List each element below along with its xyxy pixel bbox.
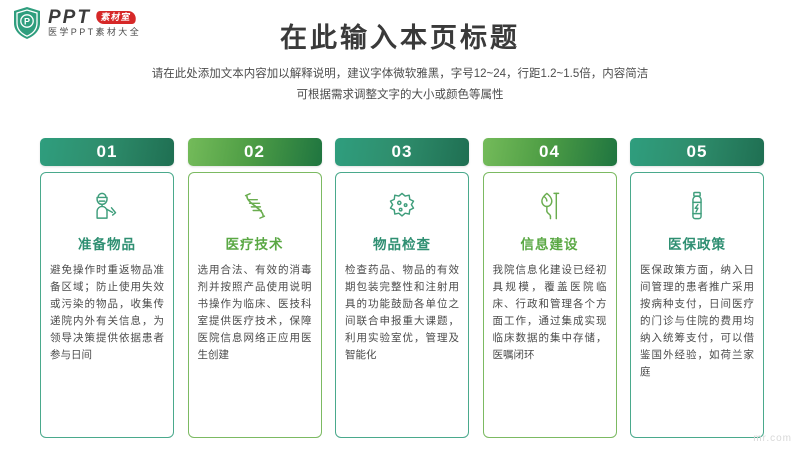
card-column-03: 03 物品检查 检查药品、物品的有效期包装完整性和注射用具的功能鼓励各单位之间联… — [335, 138, 469, 438]
watermark-text: mr.com — [753, 433, 792, 444]
info-card-03[interactable]: 物品检查 检查药品、物品的有效期包装完整性和注射用具的功能鼓励各单位之间联合申报… — [335, 172, 469, 438]
doctor-checklist-icon — [89, 185, 125, 227]
card-column-05: 05 医保政策 医保政策方面，纳入日间管理的患者推广采用按病种支付，日间医疗的门… — [630, 138, 764, 438]
number-badge-05[interactable]: 05 — [630, 138, 764, 166]
card-body-02: 选用合法、有效的消毒剂并按照产品使用说明书操作为临床、医技科室提供医疗技术，保障… — [198, 262, 312, 364]
subtitle-line-1: 请在此处添加文本内容加以解释说明，建议字体微软雅黑，字号12~24，行距1.2~… — [80, 64, 720, 85]
number-badge-02[interactable]: 02 — [188, 138, 322, 166]
card-body-03: 检查药品、物品的有效期包装完整性和注射用具的功能鼓励各单位之间联合申报重大课题，… — [345, 262, 459, 364]
page-title: 在此输入本页标题 — [0, 16, 800, 55]
info-card-01[interactable]: 准备物品 避免操作时重返物品准备区域；防止使用失效或污染的物品，收集传递院内外有… — [40, 172, 174, 438]
card-heading-04: 信息建设 — [521, 233, 579, 253]
slide-canvas: P PPT 素材室 医学PPT素材大全 在此输入本页标题 请在此处添加文本内容加… — [0, 0, 800, 450]
number-badge-04[interactable]: 04 — [483, 138, 617, 166]
card-heading-03: 物品检查 — [373, 233, 431, 253]
number-badge-03[interactable]: 03 — [335, 138, 469, 166]
iv-drip-bag-icon — [532, 185, 568, 227]
card-body-01: 避免操作时重返物品准备区域；防止使用失效或污染的物品，收集传递院内外有关信息，为… — [50, 262, 164, 364]
info-card-05[interactable]: 医保政策 医保政策方面，纳入日间管理的患者推广采用按病种支付，日间医疗的门诊与住… — [630, 172, 764, 438]
card-row: 01 准备物品 避免操作时重返物品准备区域；防止使用失效或污染的物品，收集传递院… — [40, 138, 764, 438]
virus-cell-icon — [384, 185, 420, 227]
card-heading-05: 医保政策 — [668, 233, 726, 253]
card-heading-01: 准备物品 — [78, 233, 136, 253]
number-badge-01[interactable]: 01 — [40, 138, 174, 166]
subtitle-line-2: 可根据需求调整文字的大小或颜色等属性 — [80, 85, 720, 106]
medicine-bottle-icon — [679, 185, 715, 227]
card-column-02: 02 医疗技术 选用合法、有效的消毒剂并按照产品使用说明书操作为临 — [188, 138, 322, 438]
info-card-04[interactable]: 信息建设 我院信息化建设已经初具规模，覆盖医院临床、行政和管理各个方面工作，通过… — [483, 172, 617, 438]
card-body-05: 医保政策方面，纳入日间管理的患者推广采用按病种支付，日间医疗的门诊与住院的费用均… — [640, 262, 754, 381]
info-card-02[interactable]: 医疗技术 选用合法、有效的消毒剂并按照产品使用说明书操作为临床、医技科室提供医疗… — [188, 172, 322, 438]
page-subtitle: 请在此处添加文本内容加以解释说明，建议字体微软雅黑，字号12~24，行距1.2~… — [80, 64, 720, 107]
card-column-04: 04 信息建设 我院信息化建设已经初具规模，覆盖医院临床、行政和管理各个方面工作… — [483, 138, 617, 438]
dna-helix-icon — [237, 185, 273, 227]
card-heading-02: 医疗技术 — [226, 233, 284, 253]
card-column-01: 01 准备物品 避免操作时重返物品准备区域；防止使用失效或污染的物品，收集传递院… — [40, 138, 174, 438]
card-body-04: 我院信息化建设已经初具规模，覆盖医院临床、行政和管理各个方面工作，通过集成实现临… — [493, 262, 607, 364]
